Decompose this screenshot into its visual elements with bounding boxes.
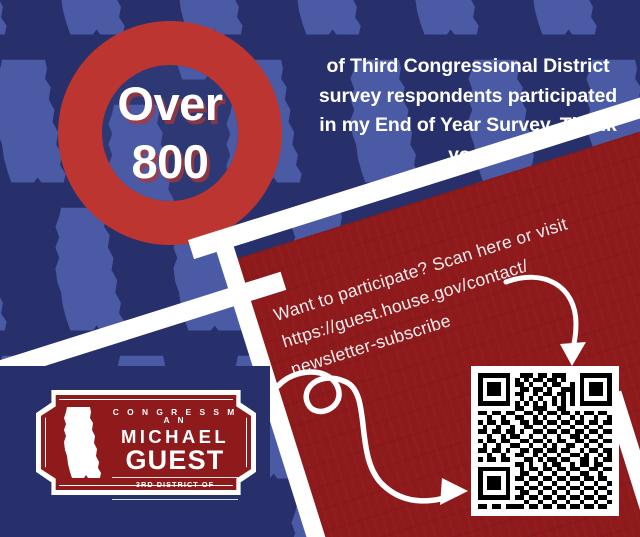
poster-canvas: Over 800 of Third Congressional District…	[0, 0, 640, 537]
logo-district-label: 3RD DISTRICT OF MISSISSIPPI	[110, 481, 240, 496]
mississippi-silhouette-icon	[0, 206, 16, 334]
logo-last-name: GUEST	[110, 447, 240, 474]
mississippi-silhouette-icon	[520, 0, 606, 38]
mississippi-silhouette-icon	[0, 0, 16, 38]
qr-code[interactable]	[471, 366, 619, 516]
congressman-logo: C O N G R E S S M A N MICHAEL GUEST 3RD …	[36, 390, 256, 495]
stat-line-over: Over	[117, 75, 222, 133]
stat-line-number: 800	[132, 133, 209, 191]
logo-divider-top	[112, 477, 238, 478]
down-arrow-icon	[500, 268, 620, 368]
logo-first-name: MICHAEL	[110, 428, 240, 447]
stat-text-group: Over 800	[58, 21, 282, 245]
mississippi-silhouette-icon	[402, 0, 488, 38]
mississippi-state-icon	[60, 406, 106, 480]
headline-text: of Third Congressional District survey r…	[318, 52, 618, 171]
qr-code-grid	[478, 373, 612, 509]
stat-donut-chart: Over 800	[58, 21, 282, 245]
logo-divider-bottom	[112, 499, 238, 500]
qr-module	[607, 504, 612, 509]
logo-congressman-label: C O N G R E S S M A N	[110, 408, 240, 425]
mississippi-silhouette-icon	[284, 0, 370, 38]
logo-text-group: C O N G R E S S M A N MICHAEL GUEST 3RD …	[110, 408, 240, 503]
curly-arrow-icon	[272, 360, 492, 520]
